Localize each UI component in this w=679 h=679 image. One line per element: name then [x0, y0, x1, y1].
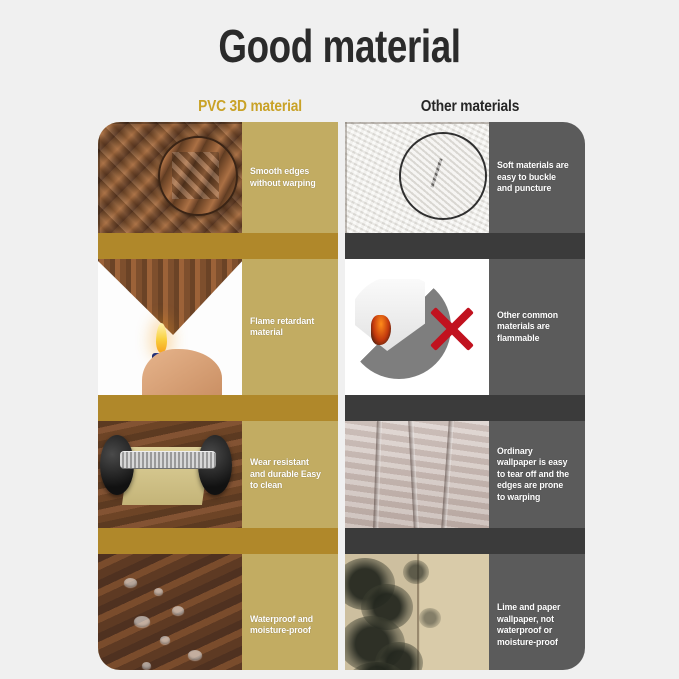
caption-text: Waterproof and moisture-proof — [250, 614, 325, 637]
caption-text: Wear resistant and durable Easy to clean — [250, 457, 325, 492]
water-droplet — [134, 616, 150, 627]
water-droplet — [154, 588, 163, 595]
waterproof-scene — [98, 554, 242, 670]
water-droplet — [160, 636, 170, 644]
feature-row-waterproof: Waterproof and moisture-proof — [98, 554, 338, 670]
caption-flammable: Other common materials are flammable — [489, 259, 585, 395]
wear-test-scene — [98, 421, 242, 528]
row-separator — [98, 528, 338, 554]
feature-row-flame-retardant: Flame retardant material — [98, 259, 338, 395]
caption-smooth-edges: Smooth edges without warping — [242, 122, 338, 233]
wood-panel-vee — [98, 259, 242, 335]
burn-scene — [345, 259, 489, 395]
crack-mark — [430, 158, 442, 187]
mold-patch — [403, 560, 429, 584]
caption-waterproof: Waterproof and moisture-proof — [242, 554, 338, 670]
photo-moldy-wall — [345, 554, 489, 670]
column-header-pvc: PVC 3D material — [155, 98, 344, 116]
photo-burning-foam — [345, 259, 489, 395]
drawback-row-soft-materials: Soft materials are easy to buckle and pu… — [345, 122, 585, 233]
mold-scene — [345, 554, 489, 670]
tear-scene — [345, 421, 489, 528]
caption-text: Soft materials are easy to buckle and pu… — [497, 160, 572, 195]
water-droplet — [172, 606, 184, 615]
page-title: Good material — [68, 18, 611, 74]
roller-axle — [120, 451, 216, 469]
caption-text: Flame retardant material — [250, 316, 325, 339]
photo-roller-wear-test — [98, 421, 242, 528]
other-materials-panel: Soft materials are easy to buckle and pu… — [345, 122, 585, 670]
row-separator — [345, 528, 585, 554]
caption-mold: Lime and paper wallpaper, not waterproof… — [489, 554, 585, 670]
row-separator — [98, 395, 338, 421]
caption-text: Ordinary wallpaper is easy to tear off a… — [497, 446, 572, 504]
caption-flame-retardant: Flame retardant material — [242, 259, 338, 395]
photo-lighter-flame — [98, 259, 242, 395]
water-droplet — [142, 662, 151, 669]
magnifier-circle-icon — [158, 136, 238, 216]
row-separator — [98, 233, 338, 259]
water-droplet — [124, 578, 137, 587]
hand-holding-lighter — [142, 349, 222, 395]
caption-text: Other common materials are flammable — [497, 310, 572, 345]
photo-foam-tile-crack — [345, 122, 489, 233]
flame-scene — [98, 259, 242, 395]
caption-text: Lime and paper wallpaper, not waterproof… — [497, 602, 572, 648]
caption-text: Smooth edges without warping — [250, 166, 325, 189]
row-separator — [345, 395, 585, 421]
caption-soft-materials: Soft materials are easy to buckle and pu… — [489, 122, 585, 233]
column-header-other: Other materials — [384, 98, 556, 116]
flame-icon — [156, 323, 167, 353]
foam-scene — [345, 122, 489, 233]
feature-row-wear-resistant: Wear resistant and durable Easy to clean — [98, 421, 338, 528]
row-separator — [345, 233, 585, 259]
photo-water-droplets — [98, 554, 242, 670]
water-droplet — [188, 650, 202, 660]
red-x-icon — [425, 301, 479, 355]
foam-sheet — [355, 279, 425, 351]
drawback-row-mold: Lime and paper wallpaper, not waterproof… — [345, 554, 585, 670]
magnifier-circle-icon — [399, 132, 487, 220]
photo-wood-panel-closeup — [98, 122, 242, 233]
caption-tearing: Ordinary wallpaper is easy to tear off a… — [489, 421, 585, 528]
mold-patch — [419, 608, 441, 628]
pvc-material-panel: Smooth edges without warping Flame retar… — [98, 122, 338, 670]
photo-torn-wallpaper — [345, 421, 489, 528]
wood-surface — [98, 554, 242, 670]
drawback-row-tearing: Ordinary wallpaper is easy to tear off a… — [345, 421, 585, 528]
drawback-row-flammable: Other common materials are flammable — [345, 259, 585, 395]
feature-row-smooth-edges: Smooth edges without warping — [98, 122, 338, 233]
caption-wear-resistant: Wear resistant and durable Easy to clean — [242, 421, 338, 528]
